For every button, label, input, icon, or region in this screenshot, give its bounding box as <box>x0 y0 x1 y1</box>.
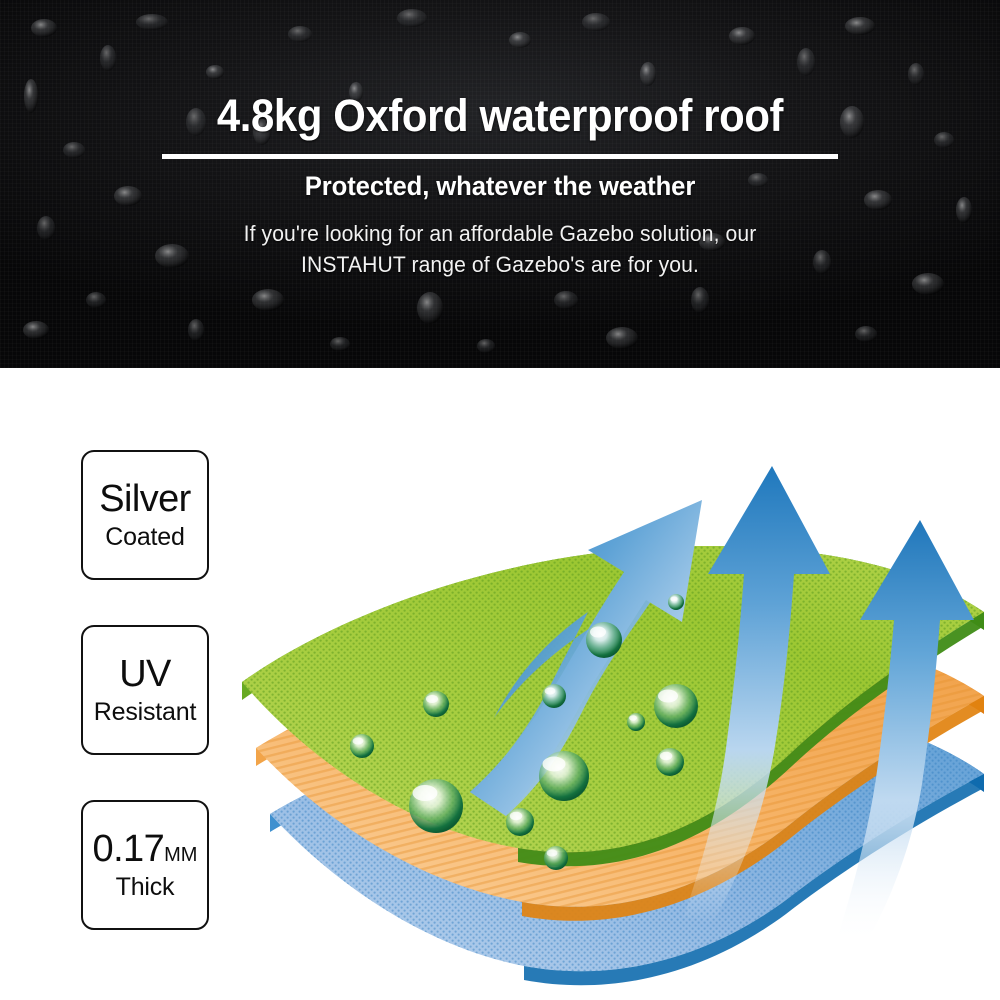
hero-content: 4.8kg Oxford waterproof roof Protected, … <box>0 0 1000 280</box>
hero-description: If you're looking for an affordable Gaze… <box>193 218 807 280</box>
feature-badge-title: UV <box>119 655 171 693</box>
thickness-value: 0.17 <box>93 828 165 870</box>
feature-badge-title: Silver <box>99 480 190 518</box>
three-layer-fabric-illustration <box>232 396 1000 986</box>
title-divider <box>162 154 838 159</box>
hero-subtitle: Protected, whatever the weather <box>25 173 975 200</box>
feature-badge-silver-coated: Silver Coated <box>81 450 209 580</box>
page-title: 4.8kg Oxford waterproof roof <box>35 0 965 138</box>
feature-badge-subtitle: Thick <box>116 875 175 900</box>
feature-badge-title: 0.17MM <box>93 830 198 868</box>
feature-badge-subtitle: Coated <box>105 525 184 550</box>
features-panel: Silver Coated UV Resistant 0.17MM Thick <box>0 368 1000 1000</box>
feature-badge-uv-resistant: UV Resistant <box>81 625 209 755</box>
hero-description-line-1: If you're looking for an affordable Gaze… <box>193 218 807 249</box>
thickness-unit: MM <box>164 844 197 866</box>
hero-description-line-2: INSTAHUT range of Gazebo's are for you. <box>193 249 807 280</box>
feature-badge-subtitle: Resistant <box>94 700 196 725</box>
hero-banner: 4.8kg Oxford waterproof roof Protected, … <box>0 0 1000 368</box>
feature-badge-thickness: 0.17MM Thick <box>81 800 209 930</box>
